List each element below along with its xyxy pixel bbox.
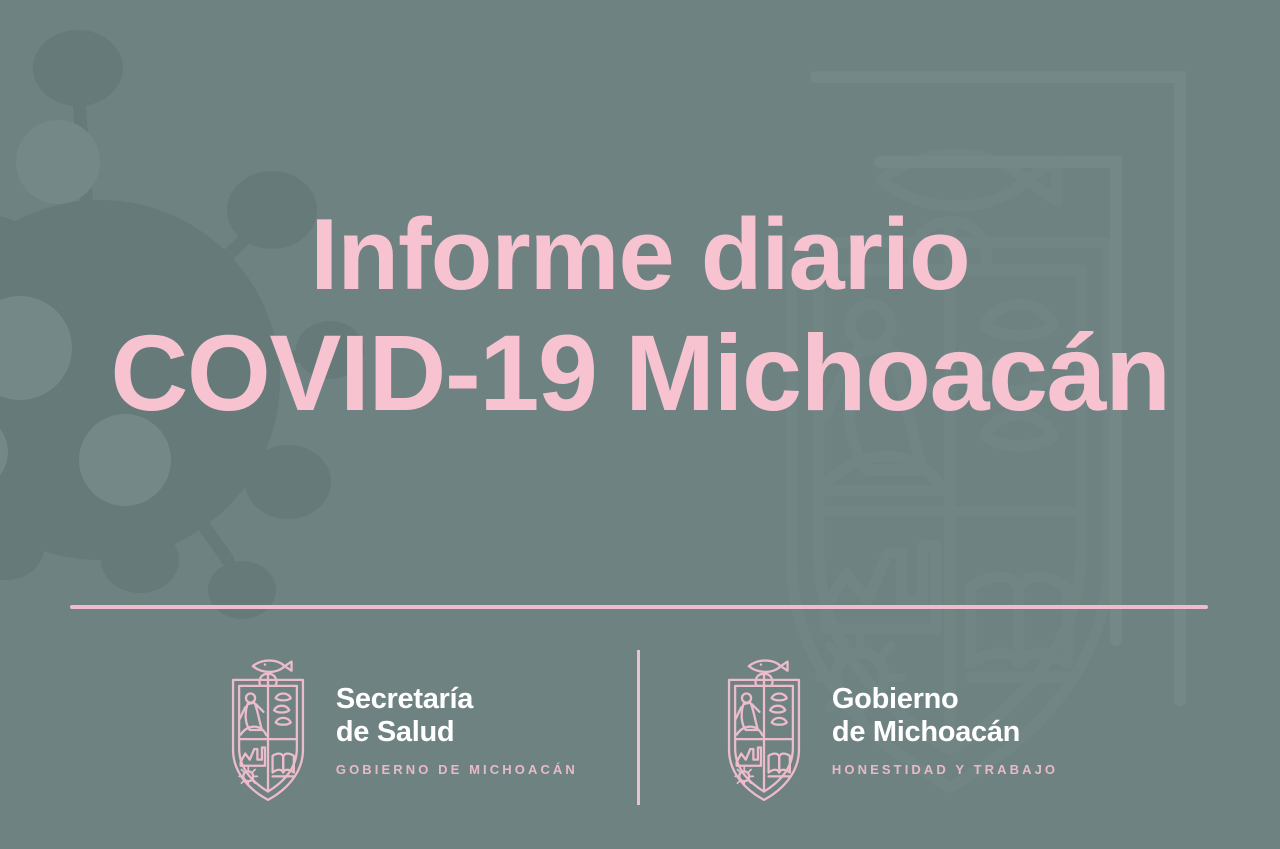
footer-logos: Secretaría de Salud GOBIERNO DE MICHOACÁ… — [0, 645, 1280, 815]
logo-gobierno-de-michoacan: Gobierno de Michoacán HONESTIDAD Y TRABA… — [648, 654, 1058, 806]
logo-title-line-1: Gobierno — [832, 683, 1058, 716]
logo-text-secretaria: Secretaría de Salud GOBIERNO DE MICHOACÁ… — [336, 683, 578, 777]
michoacan-coat-of-arms-icon — [718, 654, 810, 806]
headline-line-1: Informe diario — [0, 196, 1280, 314]
informe-diario-banner: Informe diario COVID-19 Michoacán — [0, 0, 1280, 849]
headline-line-2: COVID-19 Michoacán — [0, 314, 1280, 432]
michoacan-coat-of-arms-icon — [222, 654, 314, 806]
logo-text-gobierno: Gobierno de Michoacán HONESTIDAD Y TRABA… — [832, 683, 1058, 777]
vertical-divider — [637, 650, 640, 805]
logo-secretaria-de-salud: Secretaría de Salud GOBIERNO DE MICHOACÁ… — [222, 654, 648, 806]
logo-subtitle: GOBIERNO DE MICHOACÁN — [336, 762, 578, 777]
logo-title-line-2: de Salud — [336, 716, 578, 749]
logo-subtitle: HONESTIDAD Y TRABAJO — [832, 762, 1058, 777]
banner-headline: Informe diario COVID-19 Michoacán — [0, 196, 1280, 432]
horizontal-divider — [70, 605, 1208, 609]
logo-title-line-1: Secretaría — [336, 683, 578, 716]
logo-title-line-2: de Michoacán — [832, 716, 1058, 749]
